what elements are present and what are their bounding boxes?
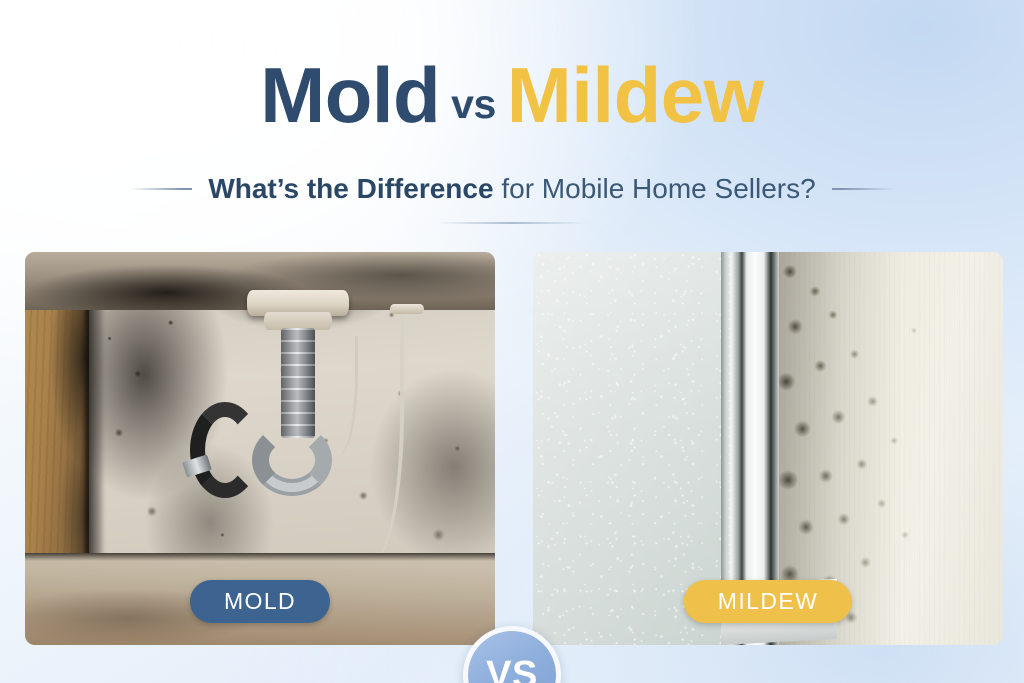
rubber-drain-hose: [190, 402, 260, 498]
page-title: MoldvsMildew: [0, 56, 1024, 134]
title-word-mold: Mold: [260, 51, 440, 139]
comparison-panel: MOLD MILDEW VS: [0, 252, 1024, 645]
header-divider: [437, 222, 587, 224]
mildew-label-text: MILDEW: [718, 588, 818, 615]
drain-pipe-highlight: [256, 428, 328, 492]
mildew-label-pill: MILDEW: [684, 580, 852, 623]
subtitle-rule-right: [832, 188, 894, 190]
mold-label-pill: MOLD: [190, 580, 330, 623]
mildew-photo-card: MILDEW: [533, 252, 1003, 645]
mold-photo-card: MOLD: [25, 252, 495, 645]
cable-cap: [390, 304, 424, 314]
page-subtitle: What’s the Difference for Mobile Home Se…: [208, 172, 815, 206]
header: MoldvsMildew What’s the Difference for M…: [0, 0, 1024, 236]
mold-label-text: MOLD: [224, 588, 296, 615]
subtitle-rest: for Mobile Home Sellers?: [494, 173, 816, 204]
subtitle-row: What’s the Difference for Mobile Home Se…: [0, 172, 1024, 206]
title-connector-vs: vs: [440, 81, 507, 127]
subtitle-emphasis: What’s the Difference: [208, 173, 493, 204]
versus-badge-text: VS: [486, 656, 538, 683]
drain-pipe-vertical: [281, 328, 315, 438]
title-word-mildew: Mildew: [507, 51, 764, 139]
subtitle-rule-left: [130, 188, 192, 190]
